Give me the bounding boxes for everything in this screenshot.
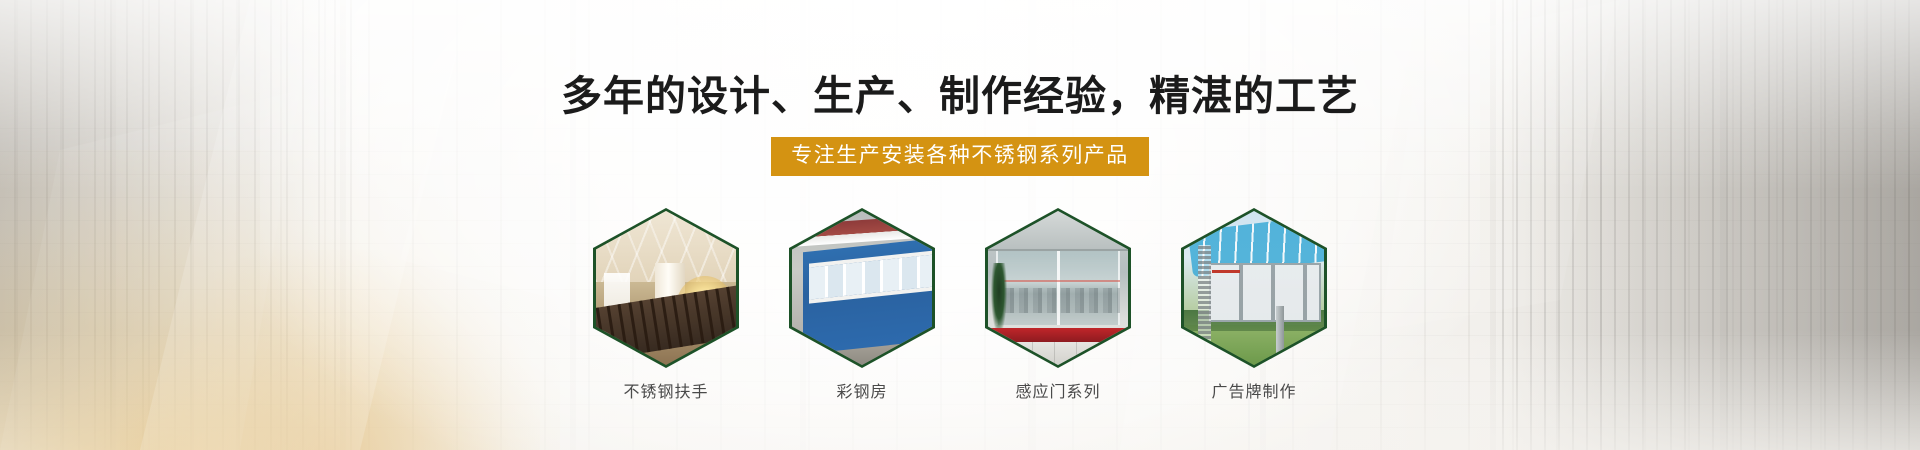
sign-post-right [1276, 306, 1284, 355]
product-item-billboard[interactable]: 广告牌制作 [1170, 208, 1338, 400]
product-item-handrail[interactable]: 不锈钢扶手 [582, 208, 750, 400]
product-label: 广告牌制作 [1211, 384, 1296, 400]
door-ceiling [988, 211, 1128, 251]
chandelier-icon [676, 276, 734, 338]
hexagon-image-clip [988, 211, 1128, 365]
hexagon-image-clip [596, 211, 736, 365]
hexagon-frame [985, 208, 1131, 368]
banner-headline: 多年的设计、生产、制作经验，精湛的工艺 [561, 76, 1359, 117]
product-label: 彩钢房 [836, 384, 887, 400]
curtain [655, 263, 685, 337]
product-item-prefab-booth[interactable]: 彩钢房 [778, 208, 946, 400]
door-floor-tiles [988, 342, 1128, 365]
hero-banner: 多年的设计、生产、制作经验，精湛的工艺 专注生产安装各种不锈钢系列产品 不锈钢扶… [0, 0, 1920, 450]
product-label: 不锈钢扶手 [623, 384, 708, 400]
billboard-sign-photo [1184, 211, 1324, 365]
hexagon-frame [593, 208, 739, 368]
door-mullion [1057, 251, 1060, 325]
hexagon-image-clip [1184, 211, 1324, 365]
door-sensor-beam [996, 280, 1119, 282]
interior-handrail-photo [596, 211, 736, 365]
sign-board-text [1212, 270, 1240, 273]
hexagon-frame [789, 208, 935, 368]
product-hexagon-row: 不锈钢扶手 彩钢房 [582, 208, 1338, 400]
hexagon-image-clip [792, 211, 932, 365]
door-red-carpet [991, 328, 1125, 342]
window-light [604, 273, 630, 335]
door-plant [991, 263, 1007, 334]
hexagon-frame [1181, 208, 1327, 368]
prefab-booth-photo [792, 211, 932, 365]
banner-subtitle-badge: 专注生产安装各种不锈钢系列产品 [771, 137, 1149, 176]
banner-content: 多年的设计、生产、制作经验，精湛的工艺 专注生产安装各种不锈钢系列产品 不锈钢扶… [0, 0, 1920, 450]
automatic-glass-door-photo [988, 211, 1128, 365]
product-item-automatic-door[interactable]: 感应门系列 [974, 208, 1142, 400]
product-label: 感应门系列 [1015, 384, 1100, 400]
sign-post-left [1198, 245, 1211, 356]
banner-subtitle-wrap: 专注生产安装各种不锈钢系列产品 [771, 137, 1149, 176]
